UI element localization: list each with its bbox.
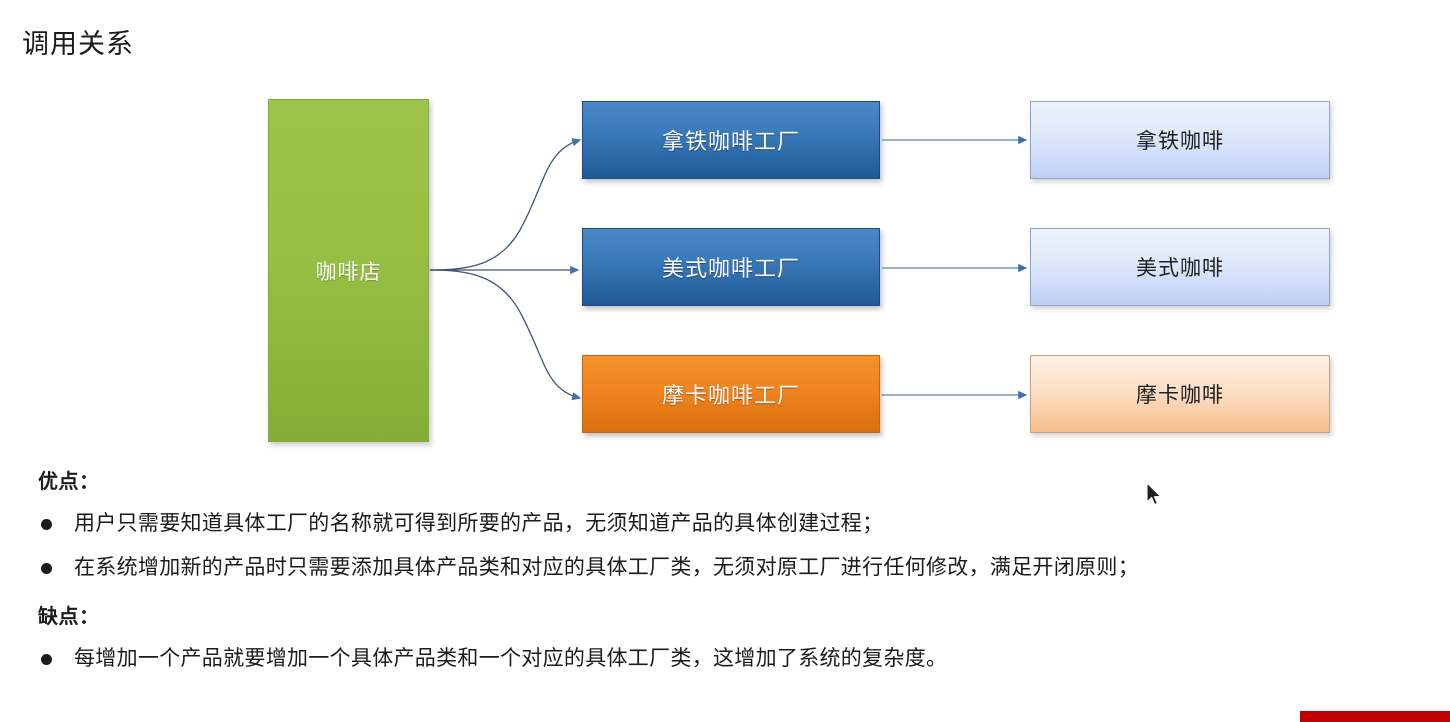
node-latte-product[interactable]: 拿铁咖啡 <box>1030 101 1330 179</box>
connector-shop-to-mocha-factory <box>430 270 580 398</box>
node-mocha-product[interactable]: 摩卡咖啡 <box>1030 355 1330 433</box>
node-coffee-shop[interactable]: 咖啡店 <box>268 99 429 442</box>
call-relationship-diagram: 咖啡店 拿铁咖啡工厂 美式咖啡工厂 摩卡咖啡工厂 拿铁咖啡 美式咖啡 摩卡咖啡 <box>0 80 1450 460</box>
node-latte-factory[interactable]: 拿铁咖啡工厂 <box>582 101 880 179</box>
cons-item-1: 每增加一个产品就要增加一个具体产品类和一个对应的具体工厂类，这增加了系统的复杂度… <box>74 645 947 673</box>
cons-heading: 缺点： <box>38 605 1450 629</box>
pros-heading: 优点： <box>38 470 1450 494</box>
list-item: 在系统增加新的产品时只需要添加具体产品类和对应的具体工厂类，无须对原工厂进行任何… <box>38 554 1450 582</box>
node-mocha-factory[interactable]: 摩卡咖啡工厂 <box>582 355 880 433</box>
bullet-dot-icon <box>41 563 52 574</box>
node-americano-product[interactable]: 美式咖啡 <box>1030 228 1330 306</box>
pros-item-2: 在系统增加新的产品时只需要添加具体产品类和对应的具体工厂类，无须对原工厂进行任何… <box>74 554 1139 582</box>
node-americano-factory[interactable]: 美式咖啡工厂 <box>582 228 880 306</box>
list-item: 每增加一个产品就要增加一个具体产品类和一个对应的具体工厂类，这增加了系统的复杂度… <box>38 645 1450 673</box>
list-item: 用户只需要知道具体工厂的名称就可得到所要的产品，无须知道产品的具体创建过程； <box>38 510 1450 538</box>
notes-section: 优点： 用户只需要知道具体工厂的名称就可得到所要的产品，无须知道产品的具体创建过… <box>0 470 1450 673</box>
bullet-dot-icon <box>41 519 52 530</box>
bottom-red-accent-bar <box>1300 711 1450 722</box>
pros-item-1: 用户只需要知道具体工厂的名称就可得到所要的产品，无须知道产品的具体创建过程； <box>74 510 883 538</box>
bullet-dot-icon <box>41 654 52 665</box>
page-title: 调用关系 <box>22 28 134 60</box>
connector-shop-to-latte-factory <box>430 140 580 270</box>
